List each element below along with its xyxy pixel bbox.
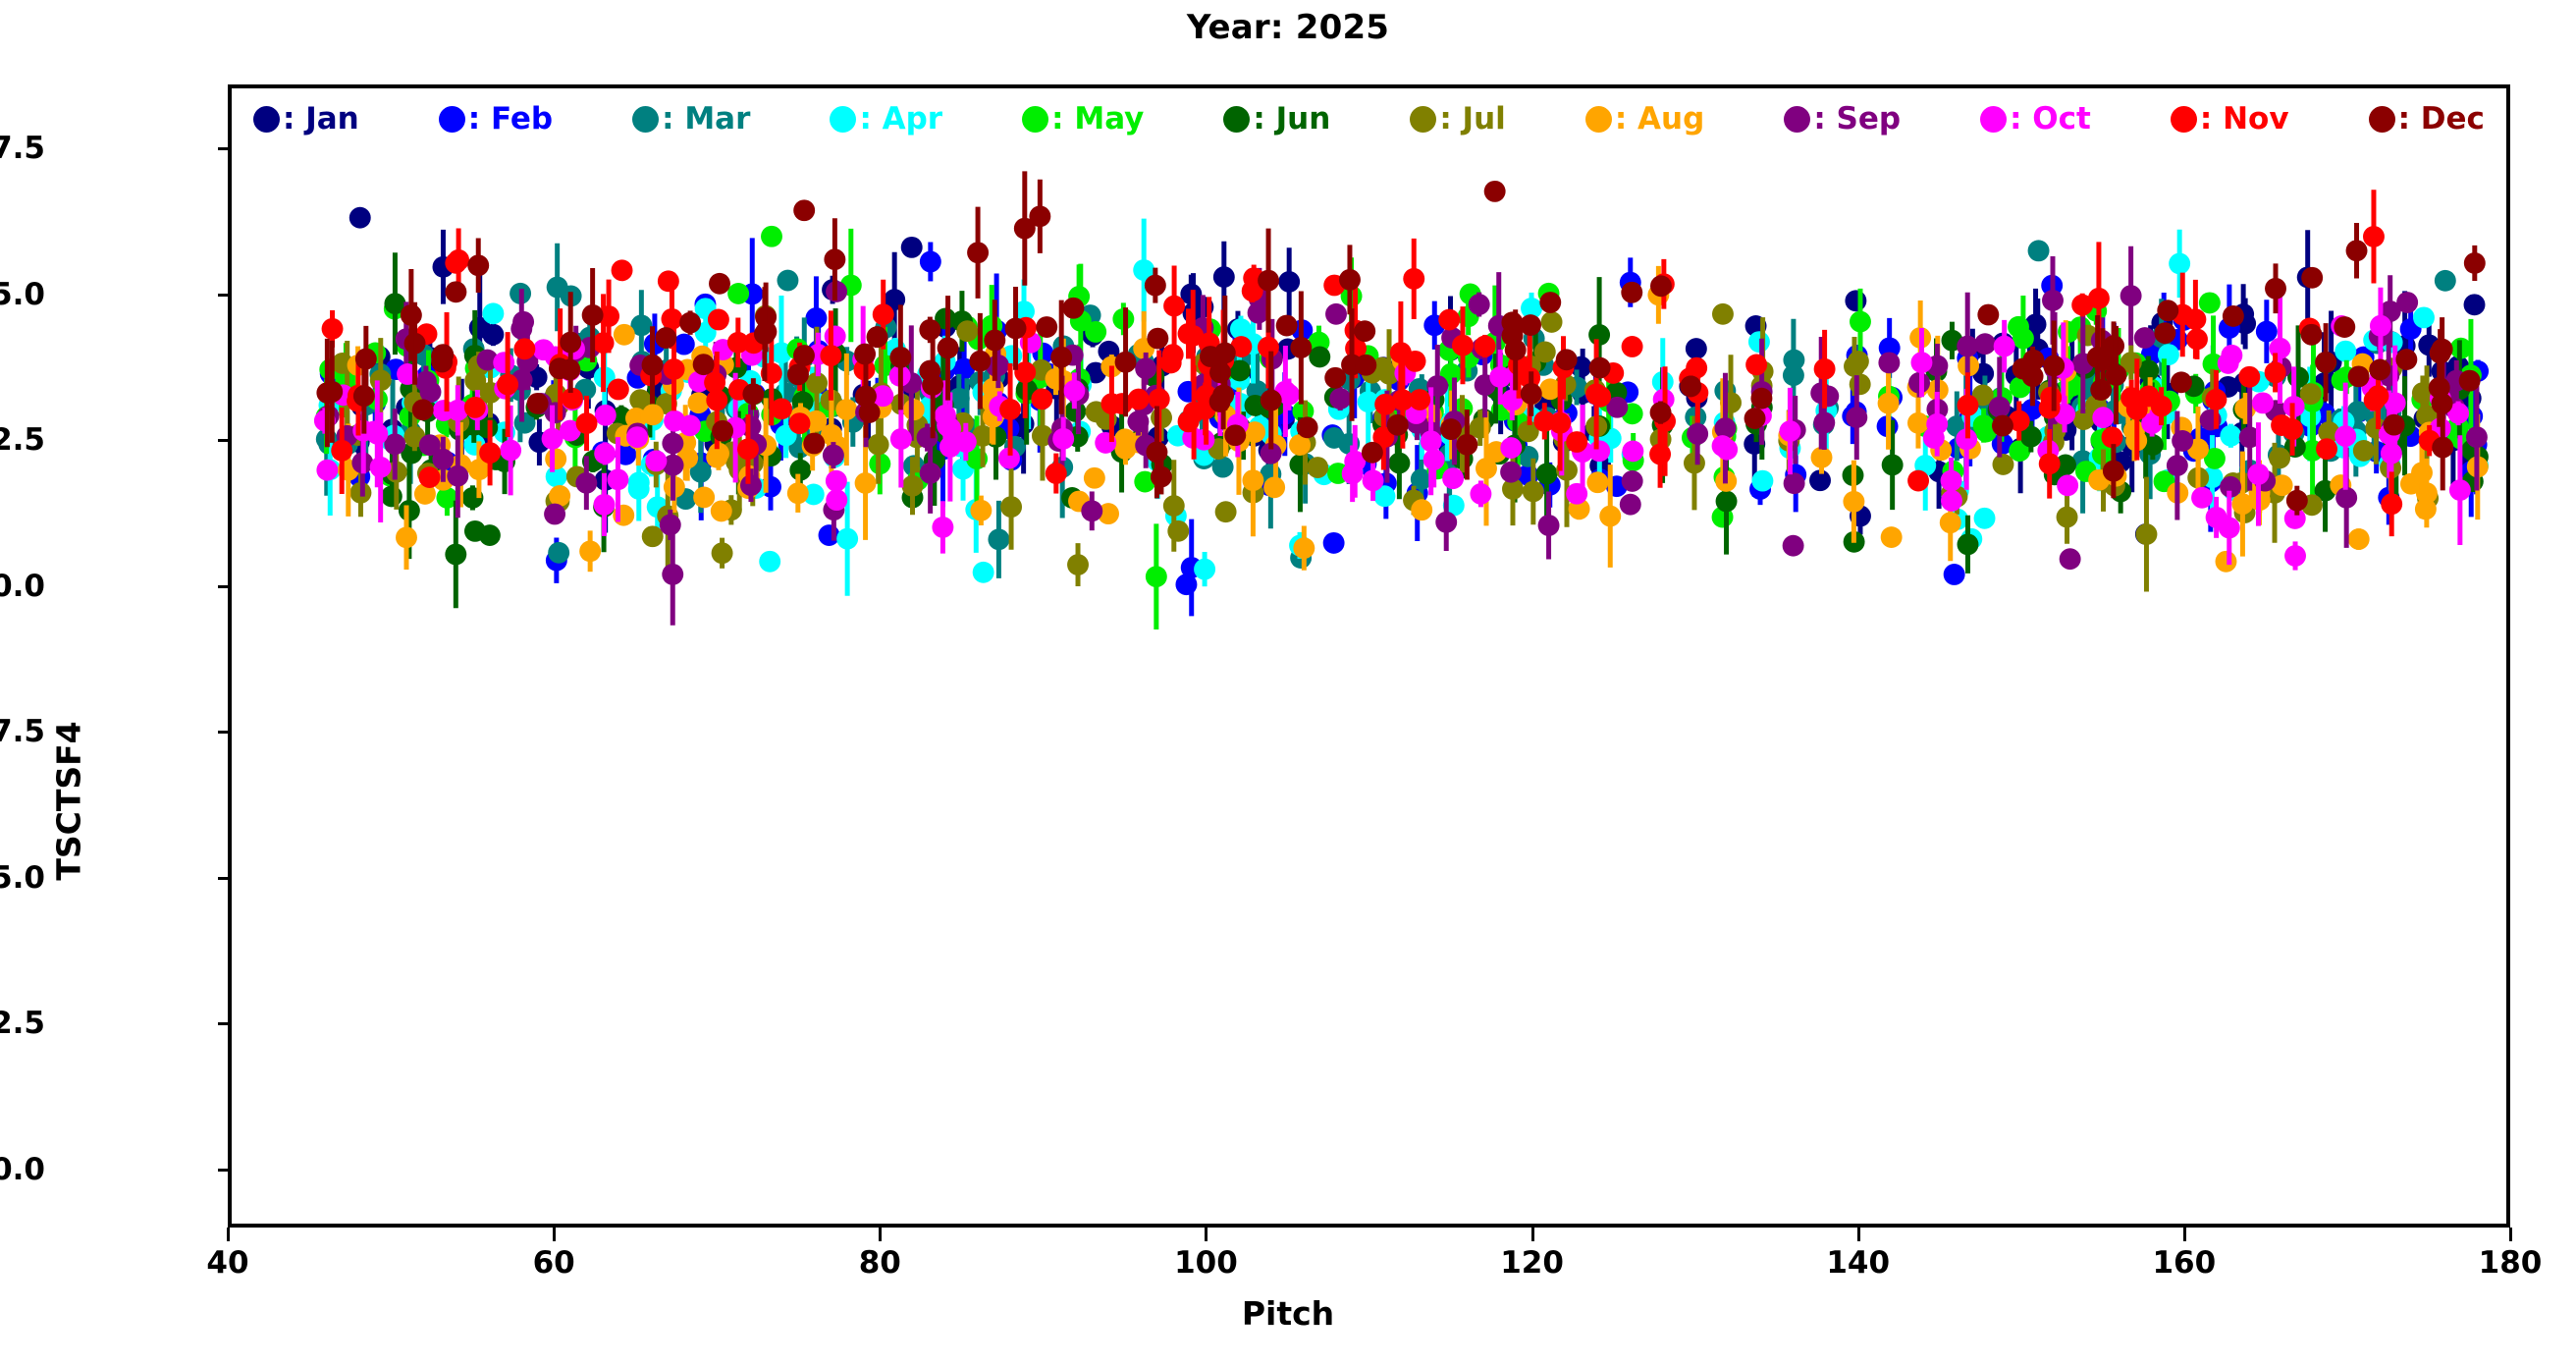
data-point bbox=[445, 544, 466, 566]
legend-marker-icon bbox=[1784, 106, 1810, 133]
data-point bbox=[1160, 353, 1182, 374]
data-point bbox=[823, 445, 844, 466]
data-point bbox=[2167, 455, 2188, 476]
data-point bbox=[1846, 407, 1867, 428]
plot-area[interactable]: : Jan: Feb: Mar: Apr: May: Jun: Jul: Aug… bbox=[228, 84, 2510, 1228]
data-point bbox=[793, 199, 815, 221]
data-point bbox=[560, 332, 581, 354]
data-point bbox=[1599, 506, 1621, 527]
data-point bbox=[1354, 320, 1375, 342]
data-point bbox=[2270, 338, 2291, 359]
data-point bbox=[1470, 483, 1491, 505]
data-point bbox=[626, 426, 648, 448]
data-point bbox=[693, 354, 715, 375]
data-point bbox=[331, 440, 352, 462]
legend-item-label: : Sep bbox=[1813, 101, 1901, 137]
data-point bbox=[835, 399, 857, 420]
scatter-plot-svg bbox=[232, 88, 2506, 1224]
data-point bbox=[2157, 300, 2178, 321]
data-point bbox=[1452, 335, 1474, 356]
data-point bbox=[2348, 528, 2370, 550]
legend-item-label: : Jun bbox=[1253, 101, 1330, 137]
data-point bbox=[1261, 390, 1282, 411]
data-point bbox=[2040, 387, 2062, 409]
data-point bbox=[1063, 380, 1085, 402]
data-point bbox=[868, 434, 889, 456]
data-point bbox=[493, 352, 514, 373]
data-point bbox=[825, 326, 846, 348]
data-point bbox=[1810, 382, 1832, 404]
legend-item-label: : Dec bbox=[2398, 101, 2485, 137]
data-point bbox=[889, 347, 911, 368]
data-point bbox=[855, 386, 877, 408]
legend-item-label: : Aug bbox=[1615, 101, 1704, 137]
data-point bbox=[890, 428, 912, 450]
legend-item-may[interactable]: : May bbox=[1022, 101, 1144, 137]
data-point bbox=[2216, 551, 2237, 573]
legend-item-label: : Nov bbox=[2200, 101, 2289, 137]
data-point bbox=[2435, 270, 2456, 292]
x-tick-mark bbox=[1857, 1228, 1860, 1241]
data-point bbox=[771, 398, 792, 419]
data-point bbox=[777, 270, 798, 292]
data-point bbox=[984, 330, 1005, 352]
data-point bbox=[1814, 358, 1836, 380]
data-point bbox=[1127, 410, 1149, 432]
data-point bbox=[1538, 515, 1560, 536]
data-point bbox=[1712, 303, 1734, 325]
data-point bbox=[1163, 296, 1185, 317]
data-point bbox=[920, 463, 941, 484]
y-tick-mark bbox=[218, 585, 232, 588]
data-point bbox=[704, 372, 725, 394]
legend-item-mar[interactable]: : Mar bbox=[632, 101, 750, 137]
data-point bbox=[1324, 367, 1346, 389]
data-point bbox=[594, 443, 616, 464]
x-tick-label: 120 bbox=[1500, 1245, 1564, 1281]
data-point bbox=[479, 524, 501, 546]
data-point bbox=[1167, 520, 1189, 542]
data-point bbox=[679, 312, 701, 334]
data-point bbox=[826, 470, 847, 492]
data-point bbox=[1224, 424, 1246, 446]
data-point bbox=[1882, 455, 1904, 476]
data-point bbox=[1850, 311, 1871, 333]
data-point bbox=[1878, 352, 1900, 373]
data-point bbox=[2154, 322, 2175, 344]
data-point bbox=[445, 252, 466, 274]
data-point bbox=[1622, 336, 1643, 357]
x-tick-label: 160 bbox=[2152, 1245, 2216, 1281]
data-point bbox=[1586, 471, 1608, 493]
data-point bbox=[761, 226, 782, 247]
data-point bbox=[1258, 337, 1279, 358]
data-point bbox=[2223, 305, 2244, 327]
data-point bbox=[1031, 388, 1052, 410]
data-point bbox=[2151, 396, 2173, 417]
data-point bbox=[1442, 467, 1464, 489]
data-point bbox=[711, 500, 732, 521]
data-point bbox=[445, 281, 466, 302]
y-tick-mark bbox=[218, 731, 232, 734]
data-point bbox=[2334, 425, 2356, 447]
data-point bbox=[316, 460, 338, 481]
data-point bbox=[2012, 358, 2034, 380]
data-point bbox=[2265, 278, 2286, 300]
data-point bbox=[1151, 466, 1172, 488]
x-tick-mark bbox=[2509, 1228, 2512, 1241]
y-tick-label: 270.0 bbox=[0, 569, 45, 604]
y-tick-mark bbox=[218, 1022, 232, 1025]
data-point bbox=[575, 472, 597, 494]
data-point bbox=[2369, 358, 2390, 380]
data-point bbox=[594, 494, 616, 516]
data-point bbox=[1588, 324, 1610, 346]
y-tick-label: 272.5 bbox=[0, 422, 45, 458]
data-point bbox=[1881, 526, 1903, 548]
data-point bbox=[1100, 393, 1122, 414]
data-point bbox=[873, 303, 894, 325]
data-point bbox=[789, 412, 811, 434]
x-tick-label: 180 bbox=[2479, 1245, 2543, 1281]
data-point bbox=[512, 311, 534, 333]
data-point bbox=[727, 332, 749, 354]
data-point bbox=[2199, 292, 2221, 313]
data-point bbox=[545, 448, 566, 469]
data-point bbox=[1194, 559, 1215, 580]
data-point bbox=[2106, 364, 2127, 386]
data-point bbox=[2411, 462, 2433, 483]
data-point bbox=[708, 309, 729, 331]
data-point bbox=[693, 486, 715, 508]
data-point bbox=[2413, 306, 2435, 328]
data-point bbox=[803, 433, 825, 455]
data-point bbox=[938, 337, 959, 358]
data-point bbox=[349, 207, 371, 229]
data-point bbox=[1263, 476, 1285, 498]
x-tick-mark bbox=[1205, 1228, 1207, 1241]
data-point bbox=[1215, 501, 1237, 522]
data-point bbox=[1489, 366, 1511, 388]
data-point bbox=[497, 374, 518, 396]
data-point bbox=[642, 404, 664, 425]
data-point bbox=[2134, 327, 2156, 349]
legend-item-feb[interactable]: : Feb bbox=[439, 101, 553, 137]
data-point bbox=[2348, 365, 2370, 387]
data-point bbox=[404, 333, 426, 355]
y-tick-label: 260.0 bbox=[0, 1152, 45, 1187]
data-point bbox=[1163, 495, 1185, 517]
data-point bbox=[1521, 383, 1542, 405]
data-point bbox=[399, 500, 420, 521]
data-point bbox=[608, 379, 629, 401]
data-point bbox=[805, 307, 827, 329]
data-point bbox=[2370, 315, 2391, 337]
data-point bbox=[1293, 537, 1315, 559]
data-point bbox=[1974, 508, 1996, 529]
data-point bbox=[661, 308, 682, 330]
data-point bbox=[1484, 181, 1506, 202]
data-point bbox=[1500, 462, 1522, 483]
x-tick-label: 140 bbox=[1826, 1245, 1890, 1281]
data-point bbox=[1242, 469, 1263, 491]
data-point bbox=[419, 466, 441, 488]
data-point bbox=[1687, 423, 1708, 445]
data-point bbox=[614, 324, 635, 346]
data-point bbox=[1135, 357, 1156, 379]
data-point bbox=[500, 440, 521, 462]
data-point bbox=[1456, 434, 1477, 456]
data-point bbox=[1405, 351, 1426, 372]
x-tick-label: 60 bbox=[533, 1245, 575, 1281]
legend-item-dec[interactable]: : Dec bbox=[2369, 101, 2485, 137]
data-point bbox=[1549, 412, 1571, 434]
legend-item-label: : Jan bbox=[283, 101, 359, 137]
data-point bbox=[2301, 324, 2323, 346]
data-point bbox=[645, 450, 667, 471]
data-point bbox=[433, 400, 455, 421]
data-point bbox=[1146, 566, 1167, 587]
data-point bbox=[1994, 336, 2015, 357]
data-point bbox=[712, 420, 733, 442]
legend-marker-icon bbox=[1585, 106, 1612, 133]
legend-item-apr[interactable]: : Apr bbox=[830, 101, 942, 137]
data-point bbox=[2364, 390, 2386, 411]
data-point bbox=[919, 319, 940, 341]
data-point bbox=[2008, 316, 2029, 338]
data-point bbox=[412, 399, 434, 420]
data-point bbox=[2126, 399, 2148, 420]
data-point bbox=[2057, 507, 2078, 528]
data-point bbox=[467, 254, 489, 276]
data-point bbox=[2103, 461, 2124, 482]
legend-item-oct[interactable]: : Oct bbox=[1980, 101, 2091, 137]
data-point bbox=[988, 528, 1009, 550]
data-point bbox=[1421, 430, 1442, 452]
data-point bbox=[1541, 311, 1563, 333]
data-point bbox=[431, 352, 453, 373]
data-point bbox=[1036, 316, 1057, 338]
data-point bbox=[542, 428, 563, 450]
data-point bbox=[1438, 309, 1460, 331]
y-axis-label-text: TSCTSF4 bbox=[50, 721, 88, 880]
data-point bbox=[1212, 457, 1234, 478]
data-point bbox=[969, 351, 991, 372]
data-point bbox=[595, 405, 617, 426]
data-point bbox=[1146, 442, 1167, 464]
data-point bbox=[1848, 351, 1869, 372]
data-point bbox=[820, 345, 841, 366]
data-point bbox=[1620, 494, 1641, 516]
data-point bbox=[2028, 240, 2050, 261]
data-point bbox=[1085, 321, 1106, 343]
data-point bbox=[612, 259, 633, 281]
data-point bbox=[2057, 474, 2078, 496]
data-point bbox=[2191, 487, 2213, 509]
legend-marker-icon bbox=[1410, 106, 1436, 133]
data-point bbox=[2286, 490, 2308, 512]
data-point bbox=[2218, 353, 2239, 374]
data-point bbox=[826, 489, 847, 511]
data-point bbox=[576, 412, 598, 434]
data-point bbox=[1910, 352, 1932, 373]
data-point bbox=[1686, 338, 1707, 359]
x-tick-label: 100 bbox=[1174, 1245, 1238, 1281]
data-point bbox=[1588, 440, 1610, 462]
y-tick-label: 275.0 bbox=[0, 277, 45, 312]
data-point bbox=[2334, 316, 2355, 338]
data-point bbox=[855, 472, 877, 494]
data-point bbox=[370, 457, 392, 478]
data-point bbox=[1440, 418, 1462, 440]
data-point bbox=[1505, 339, 1527, 360]
data-point bbox=[419, 434, 441, 456]
y-tick-mark bbox=[218, 294, 232, 297]
x-tick-mark bbox=[1531, 1228, 1534, 1241]
data-point bbox=[396, 526, 417, 548]
legend-item-label: : Jul bbox=[1439, 101, 1505, 137]
data-point bbox=[1783, 535, 1804, 557]
data-point bbox=[628, 471, 650, 493]
data-point bbox=[1621, 282, 1642, 303]
data-point bbox=[1784, 472, 1805, 494]
y-tick-label: 277.5 bbox=[0, 131, 45, 166]
data-point bbox=[1307, 457, 1328, 478]
data-point bbox=[316, 382, 338, 404]
data-point bbox=[2384, 414, 2405, 436]
data-point bbox=[2449, 479, 2471, 501]
data-point bbox=[999, 399, 1021, 420]
data-point bbox=[932, 517, 953, 538]
data-point bbox=[1536, 464, 1558, 485]
data-point bbox=[687, 392, 709, 413]
legend-marker-icon bbox=[2171, 106, 2197, 133]
data-point bbox=[1147, 328, 1168, 350]
data-point bbox=[1523, 481, 1544, 503]
data-point bbox=[2315, 352, 2336, 373]
legend-item-aug[interactable]: : Aug bbox=[1585, 101, 1704, 137]
legend-item-sep[interactable]: : Sep bbox=[1784, 101, 1901, 137]
data-point bbox=[2353, 440, 2375, 462]
data-point bbox=[1212, 385, 1234, 407]
data-point bbox=[527, 393, 549, 414]
data-point bbox=[1411, 499, 1432, 520]
data-point bbox=[660, 515, 681, 536]
data-point bbox=[1556, 349, 1578, 370]
data-point bbox=[727, 283, 749, 304]
legend-marker-icon bbox=[1223, 106, 1250, 133]
data-point bbox=[970, 500, 992, 521]
data-point bbox=[1744, 408, 1766, 429]
data-point bbox=[447, 465, 468, 487]
legend-marker-icon bbox=[1022, 106, 1048, 133]
chart-title: Year: 2025 bbox=[0, 8, 2576, 47]
data-point bbox=[1878, 393, 1900, 414]
y-tick-mark bbox=[218, 439, 232, 442]
data-point bbox=[2220, 425, 2241, 447]
data-point bbox=[2039, 453, 2061, 474]
data-point bbox=[2186, 329, 2208, 351]
data-point bbox=[2088, 288, 2110, 309]
data-point bbox=[1323, 532, 1345, 554]
data-point bbox=[1325, 303, 1347, 325]
data-point bbox=[2252, 392, 2274, 413]
data-point bbox=[2120, 285, 2142, 306]
data-point bbox=[482, 302, 504, 324]
data-point bbox=[787, 363, 809, 385]
data-point bbox=[2464, 294, 2486, 315]
data-point bbox=[1650, 402, 1672, 423]
data-point bbox=[1062, 298, 1084, 319]
data-point bbox=[1355, 355, 1376, 376]
x-tick-label: 80 bbox=[859, 1245, 901, 1281]
data-point bbox=[1957, 336, 1978, 357]
data-point bbox=[2464, 252, 2486, 274]
data-point bbox=[1779, 420, 1800, 442]
data-point bbox=[2432, 339, 2453, 360]
data-point bbox=[2171, 371, 2192, 393]
data-point bbox=[939, 418, 961, 440]
y-tick-mark bbox=[218, 147, 232, 150]
legend-item-label: : Oct bbox=[2010, 101, 2091, 137]
data-point bbox=[836, 528, 858, 550]
data-point bbox=[2238, 366, 2260, 388]
data-point bbox=[1114, 438, 1136, 460]
legend-item-jun[interactable]: : Jun bbox=[1223, 101, 1330, 137]
data-point bbox=[2169, 253, 2190, 275]
legend-marker-icon bbox=[830, 106, 856, 133]
data-point bbox=[2092, 407, 2114, 428]
data-point bbox=[1363, 469, 1384, 491]
legend-marker-icon bbox=[253, 106, 280, 133]
data-point bbox=[2466, 426, 2488, 448]
data-point bbox=[754, 323, 776, 345]
legend-item-jul[interactable]: : Jul bbox=[1410, 101, 1505, 137]
data-point bbox=[1712, 435, 1734, 457]
data-point bbox=[642, 355, 664, 376]
data-point bbox=[1622, 441, 1643, 463]
data-point bbox=[1329, 388, 1351, 410]
legend-item-nov[interactable]: : Nov bbox=[2171, 101, 2289, 137]
data-point bbox=[759, 551, 780, 573]
data-point bbox=[322, 318, 344, 340]
data-point bbox=[2058, 321, 2079, 343]
legend-item-label: : Feb bbox=[468, 101, 553, 137]
data-point bbox=[401, 304, 422, 326]
data-point bbox=[1813, 411, 1835, 433]
data-point bbox=[2459, 370, 2481, 392]
data-point bbox=[1843, 491, 1864, 513]
data-point bbox=[1923, 427, 1945, 449]
data-point bbox=[1014, 218, 1036, 240]
data-point bbox=[1684, 453, 1705, 474]
data-point bbox=[902, 475, 924, 497]
data-point bbox=[548, 542, 569, 564]
data-point bbox=[479, 442, 501, 464]
data-point bbox=[2363, 226, 2385, 247]
data-point bbox=[1005, 317, 1027, 339]
data-point bbox=[787, 482, 809, 504]
legend-marker-icon bbox=[2369, 106, 2395, 133]
data-point bbox=[1977, 304, 1999, 326]
legend-item-jan[interactable]: : Jan bbox=[253, 101, 359, 137]
y-tick-label: 265.0 bbox=[0, 860, 45, 896]
data-point bbox=[956, 320, 978, 342]
data-point bbox=[2271, 414, 2292, 436]
data-point bbox=[549, 485, 570, 507]
data-point bbox=[1276, 315, 1298, 337]
x-tick-mark bbox=[2183, 1228, 2186, 1241]
